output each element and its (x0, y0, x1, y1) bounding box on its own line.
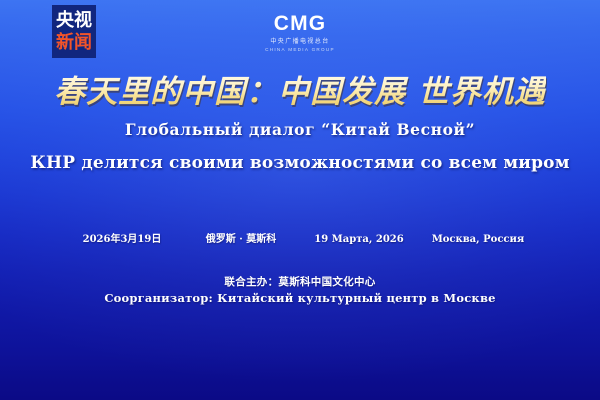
subtitle-line-2: КНР делится своими возможностями со всем… (0, 152, 600, 174)
event-poster: 央视 新闻 CMG 中央广播电视总台 CHINA MEDIA GROUP 春天里… (0, 0, 600, 400)
event-place-russian: Москва, Россия (418, 233, 538, 247)
event-date-chinese: 2026年3月19日 (62, 233, 182, 247)
organizer-line-russian: Соорганизатор: Китайский культурный цент… (0, 291, 600, 306)
organizer-line-chinese: 联合主办：莫斯科中国文化中心 (0, 275, 600, 289)
poster-headline: 春天里的中国：中国发展 世界机遇 (0, 74, 600, 110)
headline-text: 春天里的中国：中国发展 世界机遇 (54, 74, 546, 110)
cmg-wordmark: CMG (274, 13, 327, 35)
cmg-logo: CMG 中央广播电视总台 CHINA MEDIA GROUP (0, 13, 600, 53)
subtitle-line-1: Глобальный диалог “Китай Весной” (0, 120, 600, 140)
cmg-chinese-name: 中央广播电视总台 (270, 37, 329, 46)
cmg-english-name: CHINA MEDIA GROUP (265, 46, 335, 53)
event-meta-row: 2026年3月19日 俄罗斯 · 莫斯科 19 Марта, 2026 Моск… (0, 233, 600, 247)
event-date-russian: 19 Марта, 2026 (300, 233, 418, 247)
event-place-chinese: 俄罗斯 · 莫斯科 (182, 233, 300, 247)
